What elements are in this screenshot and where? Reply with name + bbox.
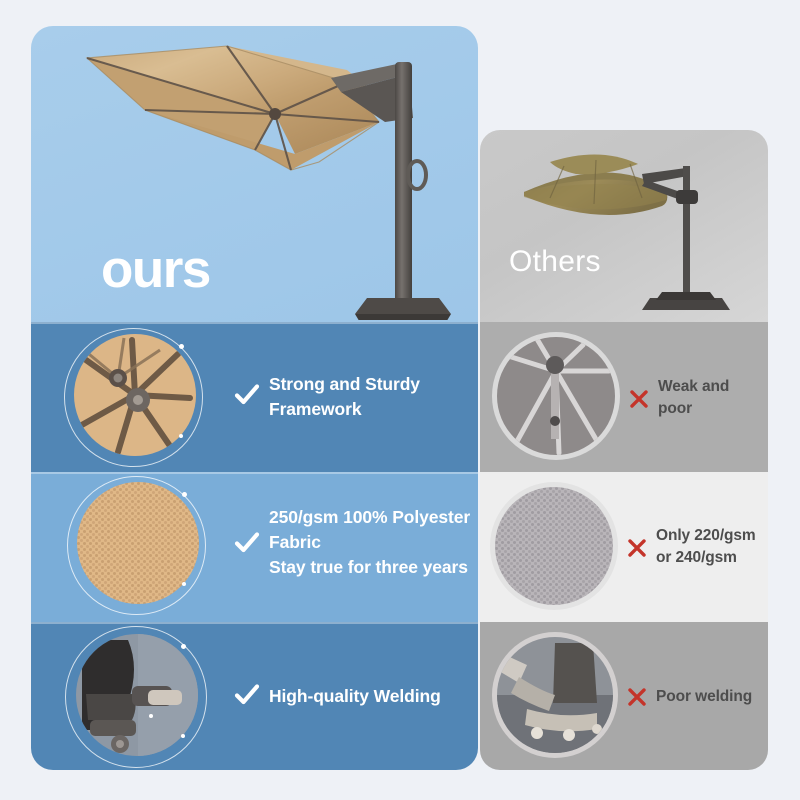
others-umbrella-illustration	[490, 134, 760, 324]
ours-feature-1-image	[74, 334, 196, 456]
others-feature-3-image	[497, 637, 613, 753]
others-feature-2-text: Only 220/gsm or 240/gsm	[656, 525, 756, 569]
ours-feature-1-text: Strong and Sturdy Framework	[269, 372, 420, 422]
others-feature-2-image	[495, 487, 613, 605]
x-icon	[627, 538, 647, 558]
ours-feature-2-text: 250/gsm 100% Polyester Fabric Stay true …	[269, 505, 470, 580]
ours-label: ours	[101, 243, 210, 296]
others-feature-row-2: Only 220/gsm or 240/gsm	[480, 472, 768, 622]
ring-dot	[149, 714, 153, 718]
others-feature-row-3: Poor welding	[480, 622, 768, 770]
check-icon	[234, 682, 260, 708]
others-feature-row-1: Weak and poor	[480, 322, 768, 472]
row-divider	[31, 622, 478, 624]
others-label: Others	[509, 247, 601, 277]
ring-dot	[179, 344, 184, 349]
x-icon	[627, 687, 647, 707]
check-icon	[234, 382, 260, 408]
row-divider	[31, 322, 478, 324]
ours-feature-3-text: High-quality Welding	[269, 684, 441, 709]
others-column: Others	[480, 130, 768, 770]
others-feature-3-text: Poor welding	[656, 686, 752, 708]
others-feature-1-text: Weak and poor	[658, 376, 729, 420]
check-icon	[234, 530, 260, 556]
ring-dot	[182, 582, 186, 586]
ours-feature-row-3: High-quality Welding	[31, 622, 478, 770]
ring-dot	[181, 644, 186, 649]
ring-dot	[179, 434, 183, 438]
others-feature-1-image	[497, 337, 615, 455]
ours-feature-2-image	[77, 482, 199, 604]
ring-dot	[181, 734, 185, 738]
ring-dot	[182, 492, 187, 497]
x-icon	[629, 389, 649, 409]
ours-column: ours	[31, 26, 478, 770]
ours-feature-3-image	[76, 634, 198, 756]
others-hero-panel: Others	[480, 130, 768, 322]
ours-feature-row-2: 250/gsm 100% Polyester Fabric Stay true …	[31, 472, 478, 622]
comparison-infographic: ours	[0, 0, 800, 800]
row-divider	[31, 472, 478, 474]
ours-feature-row-1: Strong and Sturdy Framework	[31, 322, 478, 472]
ours-hero-panel: ours	[31, 26, 478, 322]
